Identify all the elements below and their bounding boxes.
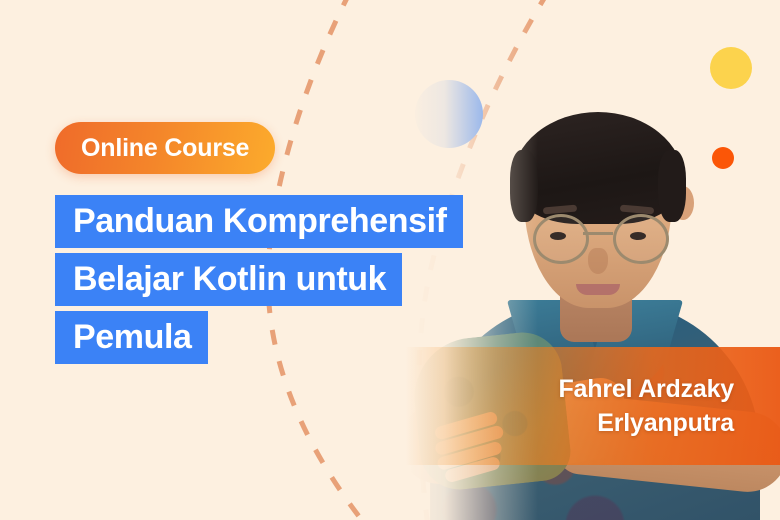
speaker-name-banner: Fahrel Ardzaky Erlyanputra: [405, 347, 780, 465]
headline-line-3: Pemula: [55, 311, 208, 364]
portrait-eyeglass-right: [613, 214, 669, 264]
page-title: Panduan Komprehensif Belajar Kotlin untu…: [55, 195, 463, 364]
online-course-badge: Online Course: [55, 122, 275, 174]
portrait-eyeglass-bridge: [583, 232, 613, 235]
course-thumbnail: Online Course Panduan Komprehensif Belaj…: [0, 0, 780, 520]
portrait-nose: [588, 248, 608, 274]
speaker-name-line-2: Erlyanputra: [597, 406, 734, 440]
headline-line-2: Belajar Kotlin untuk: [55, 253, 402, 306]
headline-line-1: Panduan Komprehensif: [55, 195, 463, 248]
online-course-badge-label: Online Course: [81, 134, 249, 163]
portrait-hair-side-right: [658, 150, 686, 222]
portrait-mouth: [576, 284, 620, 295]
portrait-eyeglass-left: [533, 214, 589, 264]
speaker-name-line-1: Fahrel Ardzaky: [558, 372, 734, 406]
